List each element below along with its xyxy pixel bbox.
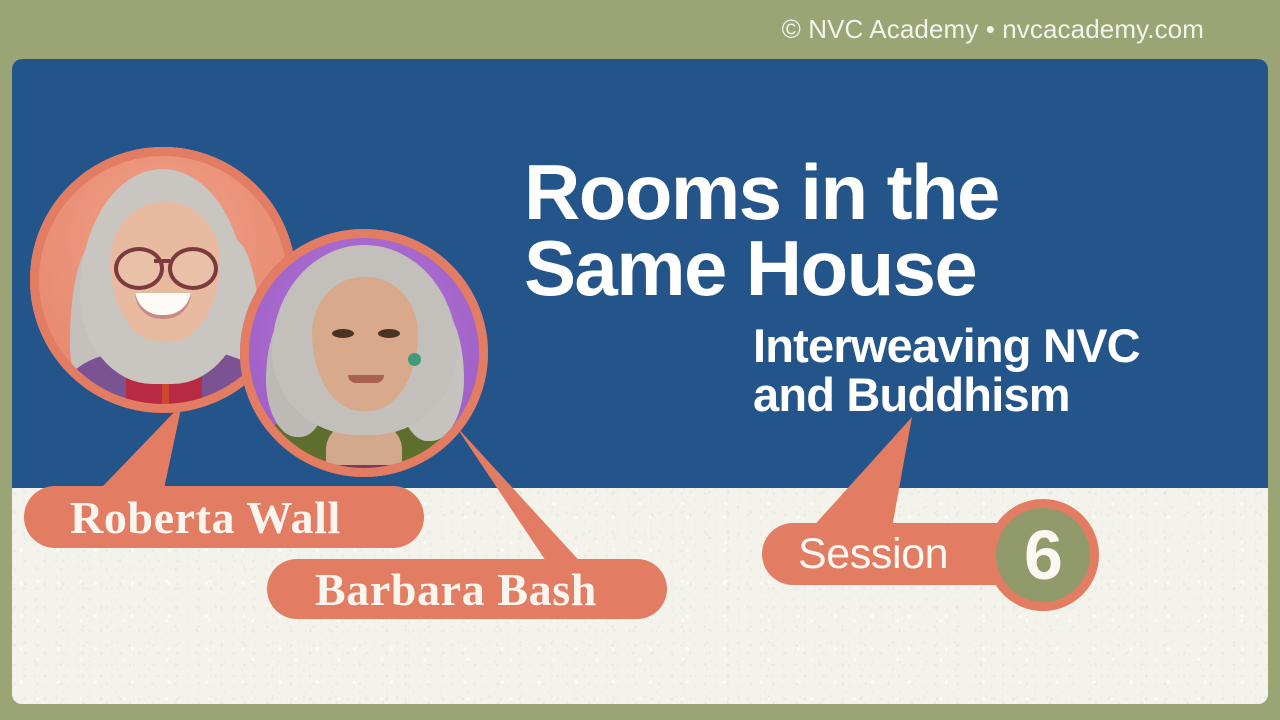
page-subtitle: Interweaving NVC and Buddhism [753, 321, 1233, 420]
session-number-circle: 6 [987, 499, 1099, 611]
presenter-name: Roberta Wall [70, 491, 341, 544]
presentation-slide: © NVC Academy • nvcacademy.com Rooms in … [0, 0, 1280, 720]
presenter-name: Barbara Bash [315, 563, 597, 616]
mouth [348, 375, 384, 383]
shirt [332, 465, 398, 477]
title-line-2: Same House [524, 231, 1224, 307]
name-badge-barbara-bash: Barbara Bash [267, 559, 667, 619]
copyright-bar: © NVC Academy • nvcacademy.com [0, 0, 1280, 58]
earring-icon [408, 353, 421, 366]
title-line-1: Rooms in the [524, 155, 1224, 231]
copyright-text: © NVC Academy • nvcacademy.com [782, 14, 1204, 45]
avatar-barbara-bash [240, 229, 488, 477]
session-label: Session [798, 530, 948, 579]
portrait-artwork-barbara [240, 229, 488, 477]
eyeglass-right [168, 247, 218, 290]
eye-right [378, 329, 400, 338]
name-badge-roberta-wall: Roberta Wall [24, 486, 424, 548]
subtitle-line-2: and Buddhism [753, 370, 1233, 419]
page-title: Rooms in the Same House [524, 155, 1224, 306]
eye-left [332, 329, 354, 338]
eyeglass-left [114, 247, 164, 290]
subtitle-line-1: Interweaving NVC [753, 321, 1233, 370]
session-number: 6 [1024, 520, 1062, 590]
slide-card: Rooms in the Same House Interweaving NVC… [12, 59, 1268, 704]
eyeglass-bridge [154, 259, 170, 263]
